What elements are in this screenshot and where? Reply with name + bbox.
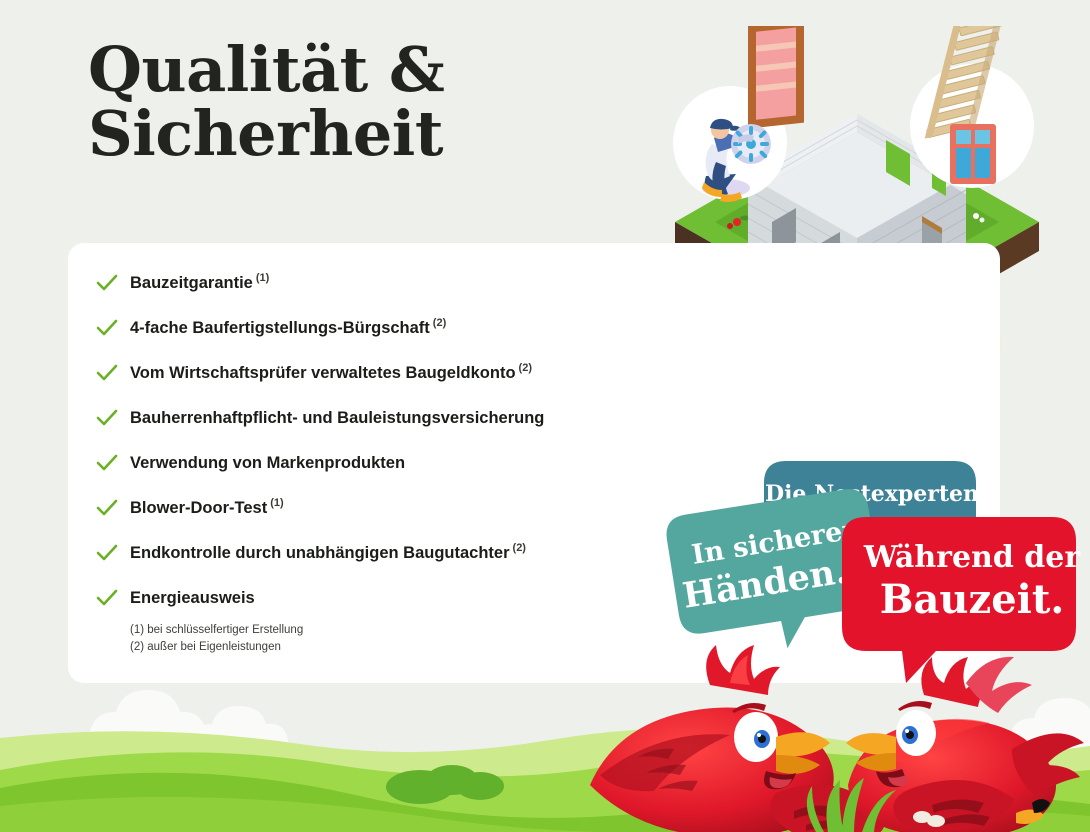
window-icon — [950, 124, 996, 184]
check-icon — [96, 362, 130, 382]
bird-left — [590, 645, 885, 832]
list-item: Verwendung von Markenprodukten — [96, 452, 696, 497]
poster-canvas: Qualität & Sicherheit Bauzeitgarantie (1… — [0, 0, 1090, 832]
list-item-label: Vom Wirtschaftsprüfer verwaltetes Baugel… — [130, 362, 516, 384]
page-title: Qualität & Sicherheit — [88, 38, 444, 166]
list-item: Blower-Door-Test (1) — [96, 497, 696, 542]
bubble-right-line2: Bauzeit. — [880, 576, 1065, 623]
list-item-label: Blower-Door-Test — [130, 497, 267, 519]
list-item: Bauzeitgarantie (1) — [96, 272, 696, 317]
footnotes: (1) bei schlüsselfertiger Erstellung (2)… — [130, 622, 303, 656]
list-item-note: (2) — [433, 317, 446, 329]
list-item-label: Bauherrenhaftpflicht- und Bauleistungsve… — [130, 407, 544, 429]
check-icon — [96, 587, 130, 607]
check-icon — [96, 542, 130, 562]
insulation-panel — [748, 26, 804, 129]
list-item-label: Bauzeitgarantie — [130, 272, 253, 294]
list-item-note: (2) — [513, 542, 526, 554]
list-item: 4-fache Baufertigstellungs-Bürgschaft (2… — [96, 317, 696, 362]
list-item-label: Verwendung von Markenprodukten — [130, 452, 405, 474]
footnote-2: (2) außer bei Eigenleistungen — [130, 639, 303, 656]
list-item: Endkontrolle durch unabhängigen Baugutac… — [96, 542, 696, 587]
check-icon — [96, 317, 130, 337]
list-item-note: (1) — [256, 272, 269, 284]
feature-checklist: Bauzeitgarantie (1) 4-fache Baufertigste… — [96, 272, 696, 632]
list-item: Bauherrenhaftpflicht- und Bauleistungsve… — [96, 407, 696, 452]
bubble-right-line1: Während der — [863, 540, 1082, 575]
bird-characters — [580, 625, 1090, 832]
check-icon — [96, 497, 130, 517]
list-item: Vom Wirtschaftsprüfer verwaltetes Baugel… — [96, 362, 696, 407]
footnote-1: (1) bei schlüsselfertiger Erstellung — [130, 622, 303, 639]
list-item-label: Energieausweis — [130, 587, 255, 609]
list-item-note: (1) — [270, 497, 283, 509]
check-icon — [96, 452, 130, 472]
list-item-label: 4-fache Baufertigstellungs-Bürgschaft — [130, 317, 430, 339]
check-icon — [96, 272, 130, 292]
check-icon — [96, 407, 130, 427]
list-item-note: (2) — [519, 362, 532, 374]
list-item-label: Endkontrolle durch unabhängigen Baugutac… — [130, 542, 510, 564]
